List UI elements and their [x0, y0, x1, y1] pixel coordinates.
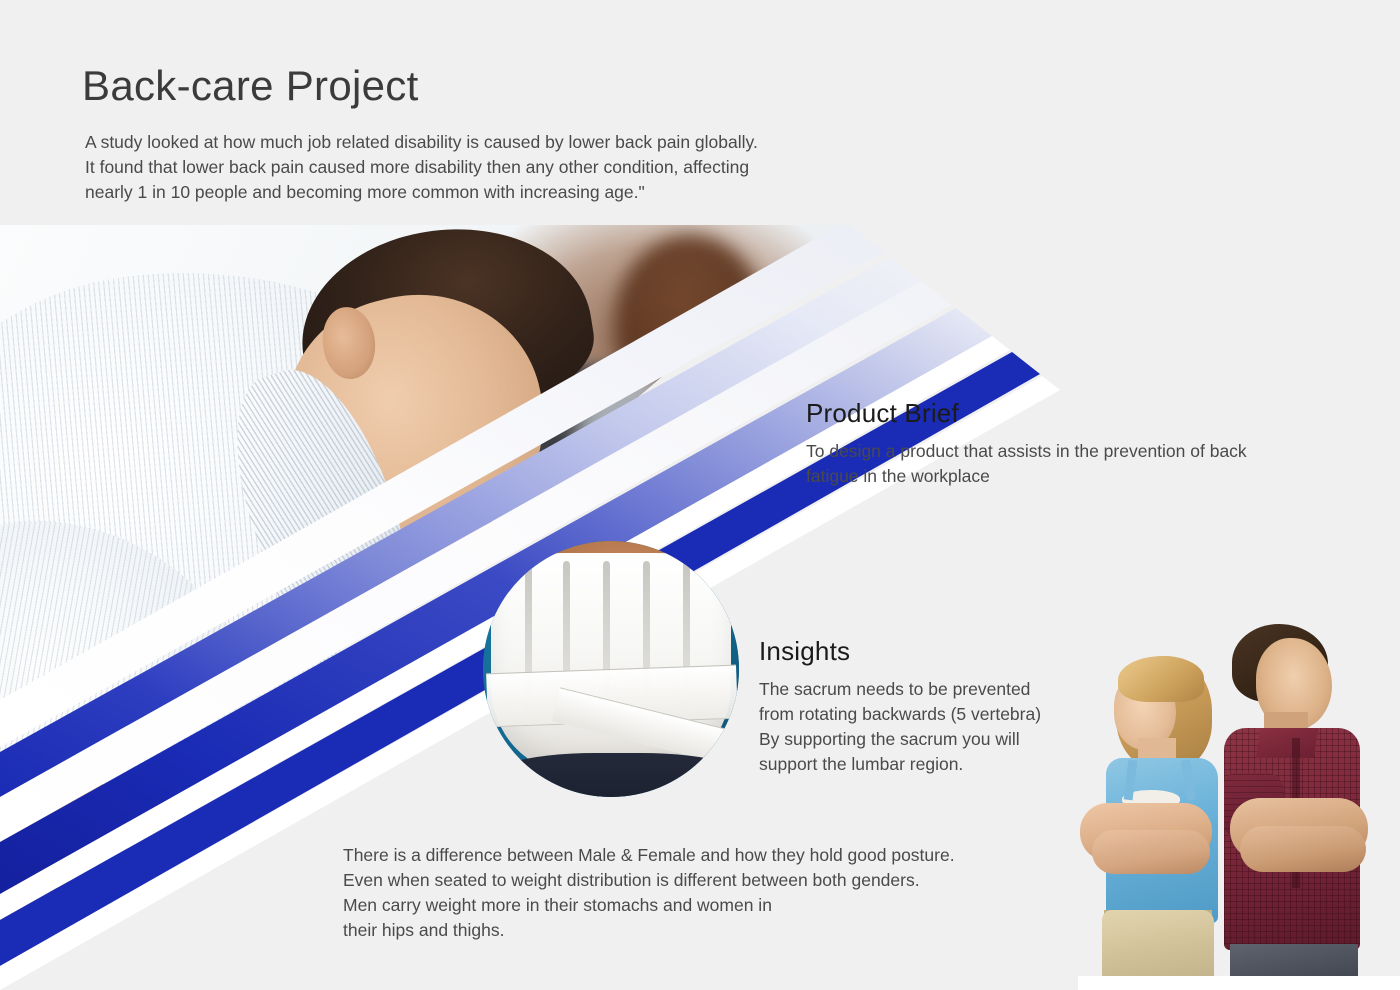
insights-section: Insights The sacrum needs to be prevente… [759, 636, 1079, 777]
product-brief-body: To design a product that assists in the … [806, 439, 1346, 489]
product-brief-heading: Product Brief [806, 398, 1346, 429]
page-title: Back-care Project [82, 62, 419, 110]
man-shirt-collar [1256, 728, 1318, 758]
insights-heading: Insights [759, 636, 1079, 667]
insights-body: The sacrum needs to be prevented from ro… [759, 677, 1079, 777]
woman-bangs [1118, 656, 1204, 702]
woman-crossed-forearm [1092, 830, 1210, 874]
intro-paragraph: A study looked at how much job related d… [85, 130, 758, 205]
man-crossed-forearm [1240, 826, 1366, 872]
mans-trousers [0, 874, 227, 990]
couple-photo [1078, 608, 1400, 990]
product-brief-section: Product Brief To design a product that a… [806, 398, 1346, 489]
gender-difference-body: There is a difference between Male & Fem… [343, 843, 1083, 943]
product-photo-circle [483, 541, 739, 797]
header-band: Back-care Project A study looked at how … [0, 0, 1400, 225]
gender-difference-section: There is a difference between Male & Fem… [343, 843, 1083, 943]
poster-canvas: Back-care Project A study looked at how … [0, 0, 1400, 990]
photo-bottom-white-strip [1078, 976, 1400, 990]
dark-trousers [483, 753, 739, 797]
